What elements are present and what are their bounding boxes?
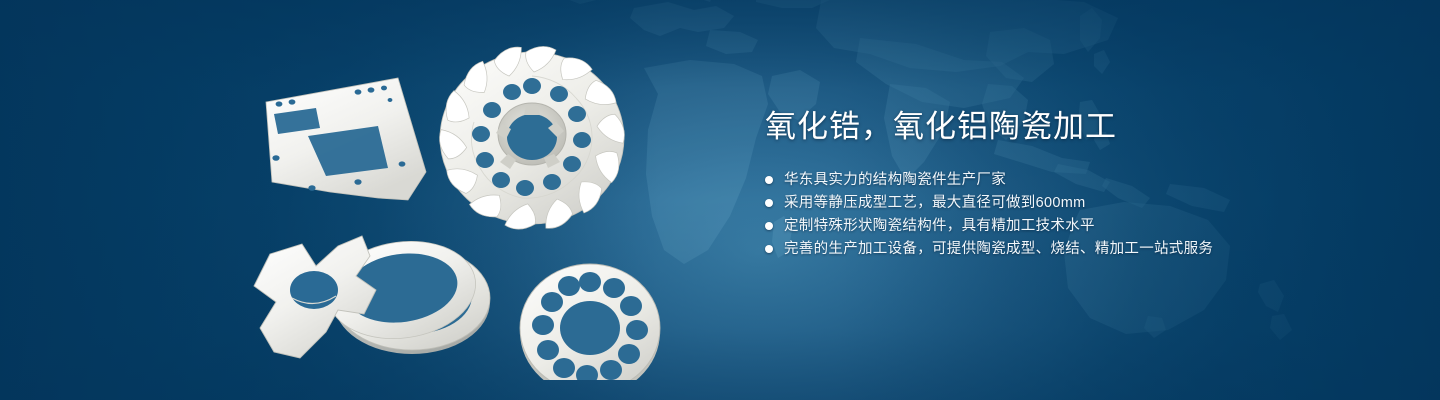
list-item-label: 完善的生产加工设备，可提供陶瓷成型、烧结、精加工一站式服务 (784, 242, 1213, 257)
list-item-label: 采用等静压成型工艺，最大直径可做到600mm (784, 196, 1085, 211)
banner-copy: 氧化锆，氧化铝陶瓷加工 华东具实力的结构陶瓷件生产厂家 采用等静压成型工艺，最大… (765, 108, 1385, 265)
bullet-dot-icon (765, 199, 773, 207)
ceramic-impeller-part (438, 44, 627, 231)
feature-list: 华东具实力的结构陶瓷件生产厂家 采用等静压成型工艺，最大直径可做到600mm 定… (765, 173, 1385, 257)
list-item: 华东具实力的结构陶瓷件生产厂家 (765, 173, 1385, 188)
hero-banner: 氧化锆，氧化铝陶瓷加工 华东具实力的结构陶瓷件生产厂家 采用等静压成型工艺，最大… (0, 0, 1440, 400)
ceramic-cross-part (254, 236, 376, 358)
ceramic-products-image (230, 40, 700, 380)
ceramic-valve-plate-part (520, 264, 660, 380)
list-item-label: 华东具实力的结构陶瓷件生产厂家 (784, 173, 1006, 188)
bullet-dot-icon (765, 245, 773, 253)
list-item: 定制特殊形状陶瓷结构件，具有精加工技术水平 (765, 219, 1385, 234)
list-item-label: 定制特殊形状陶瓷结构件，具有精加工技术水平 (784, 219, 1095, 234)
list-item: 完善的生产加工设备，可提供陶瓷成型、烧结、精加工一站式服务 (765, 242, 1385, 257)
ceramic-plate-part (266, 78, 426, 200)
bullet-dot-icon (765, 176, 773, 184)
list-item: 采用等静压成型工艺，最大直径可做到600mm (765, 196, 1385, 211)
bullet-dot-icon (765, 222, 773, 230)
page-title: 氧化锆，氧化铝陶瓷加工 (765, 108, 1385, 147)
